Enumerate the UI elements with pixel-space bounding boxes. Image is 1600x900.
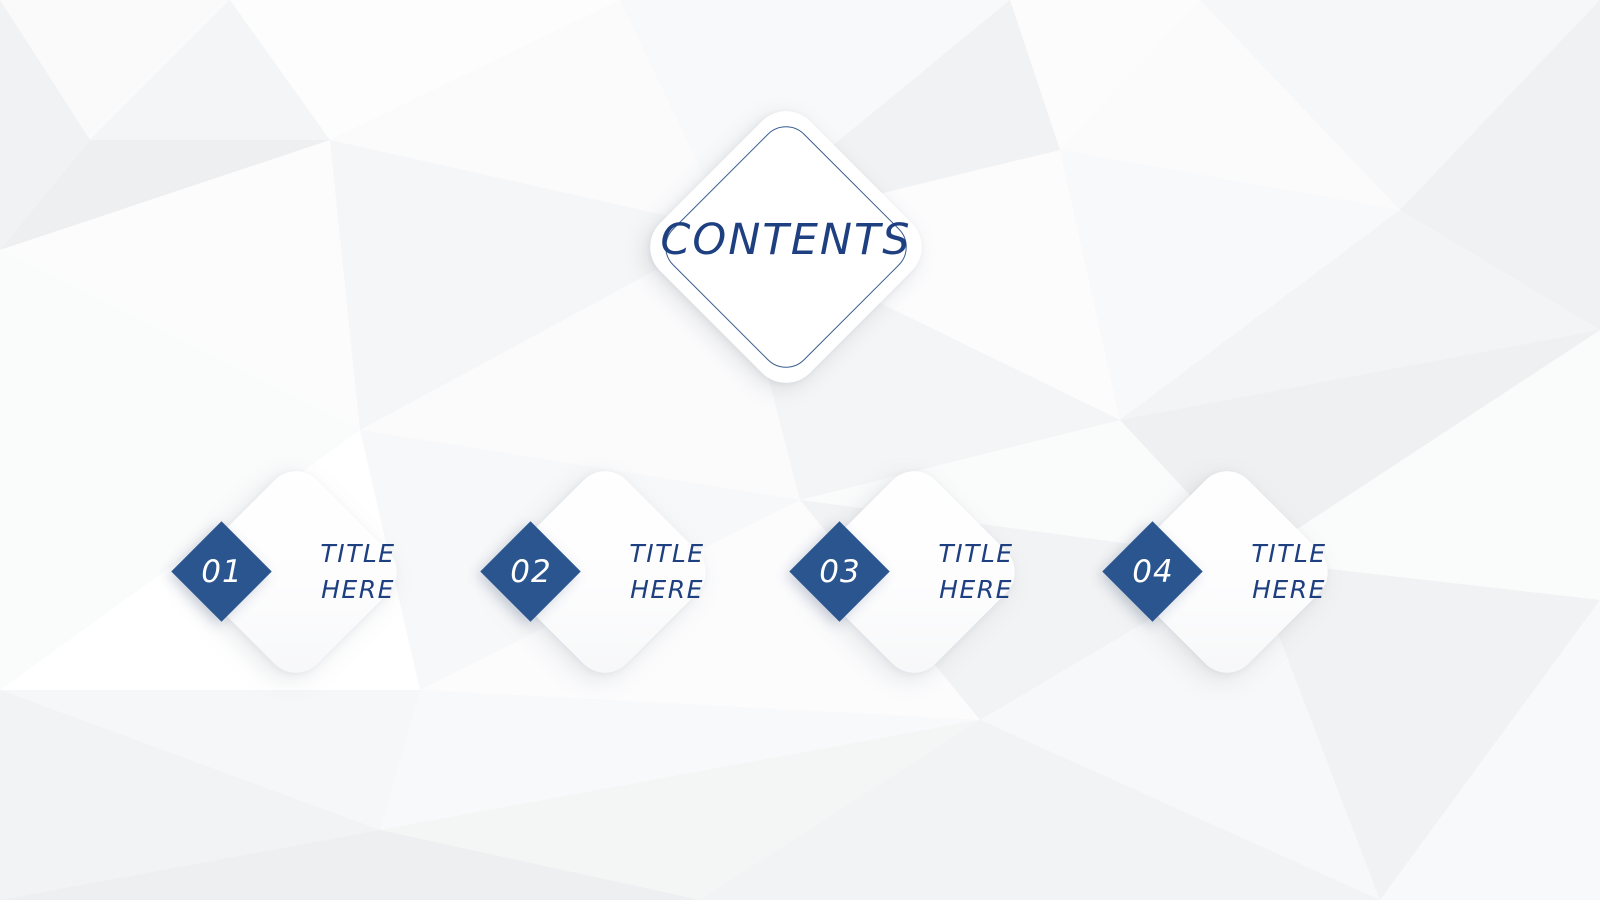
item-title-line1: TITLE <box>1194 536 1384 572</box>
item-title-label: TITLE HERE <box>263 536 453 608</box>
item-title-line2: HERE <box>572 572 762 608</box>
item-title-line2: HERE <box>881 572 1071 608</box>
item-title-line2: HERE <box>263 572 453 608</box>
item-title-line2: HERE <box>1194 572 1384 608</box>
item-title-label: TITLE HERE <box>572 536 762 608</box>
item-number-label: 01 <box>172 554 272 590</box>
item-title-label: TITLE HERE <box>881 536 1071 608</box>
contents-item-04[interactable]: 04 TITLE HERE <box>1073 452 1473 694</box>
item-title-line1: TITLE <box>263 536 453 572</box>
item-title-line1: TITLE <box>881 536 1071 572</box>
item-title-line1: TITLE <box>572 536 762 572</box>
item-number-label: 02 <box>481 554 581 590</box>
item-number-label: 03 <box>790 554 890 590</box>
contents-items-row: 01 TITLE HERE 02 TITLE HERE <box>0 0 1600 900</box>
contents-slide: CONTENTS 01 TITLE HERE 02 <box>0 0 1600 900</box>
item-title-label: TITLE HERE <box>1194 536 1384 608</box>
item-number-label: 04 <box>1103 554 1203 590</box>
